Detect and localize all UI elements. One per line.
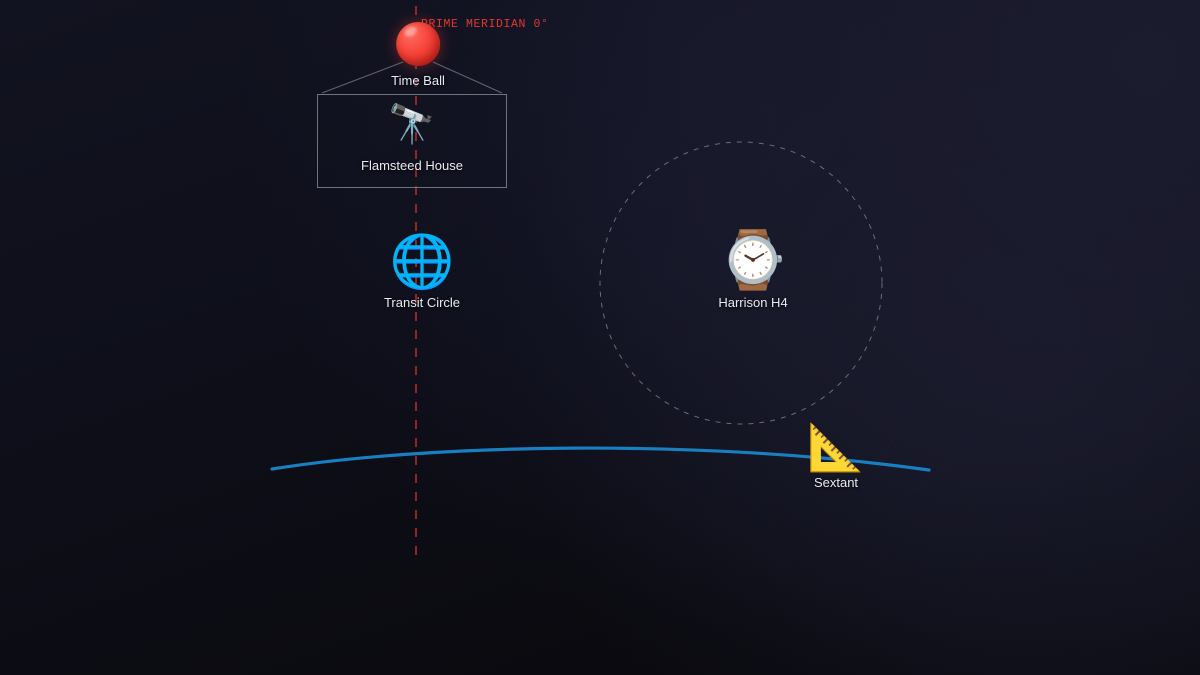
red-sphere-icon [396,22,440,66]
node-harrison-h4[interactable]: ⌚ Harrison H4 [718,232,788,310]
background-sweep-1 [870,30,1200,470]
node-transit-circle[interactable]: 🌐 Transit Circle [384,236,460,310]
node-label-transit-circle: Transit Circle [384,295,460,310]
footer: Vectree The history of the Royal Observa… [0,505,1200,675]
node-flamsteed-house[interactable]: 🔭 Flamsteed House [317,94,507,188]
node-time-ball[interactable]: Time Ball [391,22,445,88]
node-label-sextant: Sextant [814,475,858,490]
watch-icon: ⌚ [718,232,788,288]
node-label-harrison-h4: Harrison H4 [718,295,787,310]
node-label-flamsteed-house: Flamsteed House [361,158,463,173]
slide-canvas: PRIME MERIDIAN 0° Time Ball 🔭 Flamsteed … [0,0,1200,675]
node-sextant[interactable]: 📐 Sextant [807,424,864,490]
node-label-time-ball: Time Ball [391,73,445,88]
globe-icon: 🌐 [390,236,455,288]
triangle-ruler-icon: 📐 [807,424,864,470]
telescope-icon: 🔭 [388,106,435,144]
